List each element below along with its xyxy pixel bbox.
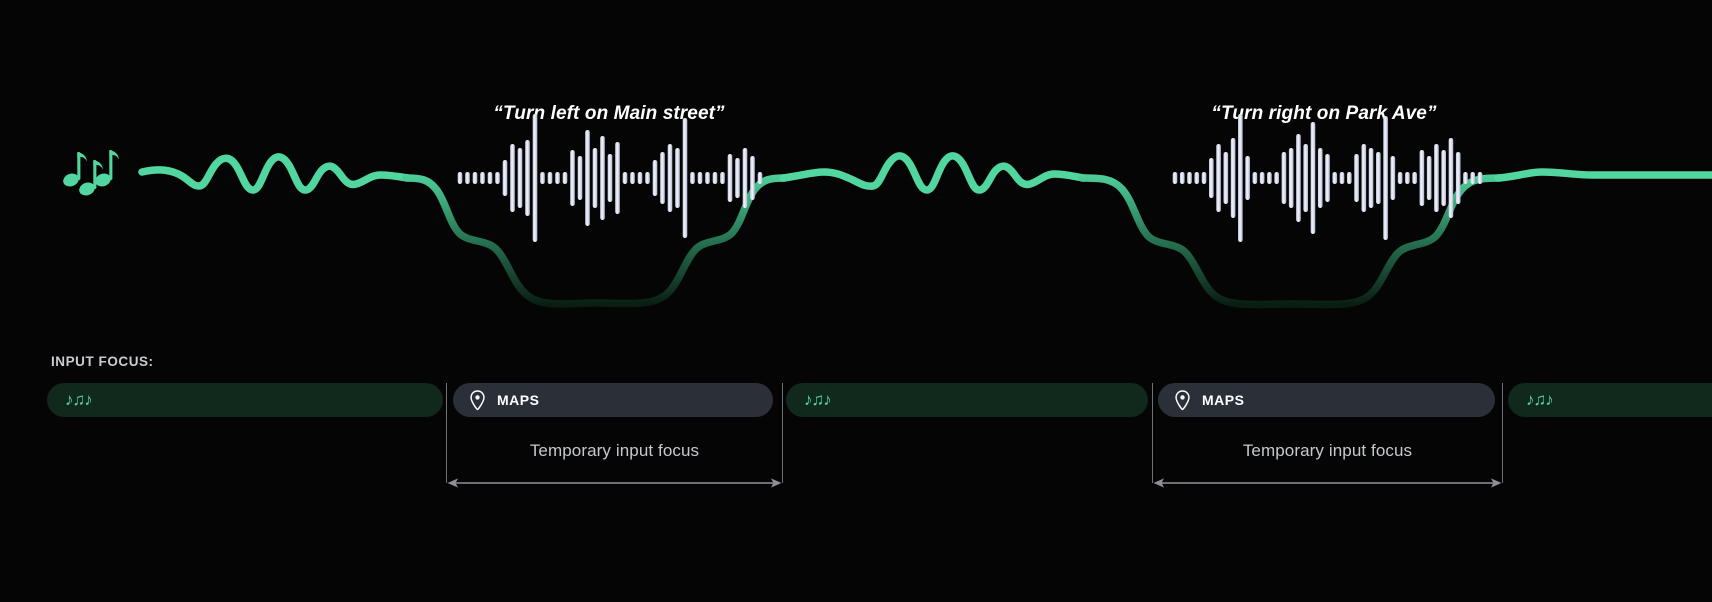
voice-waveform-bar bbox=[1303, 144, 1308, 212]
music-notes-icon: ♪♫♪ bbox=[1526, 391, 1553, 408]
voice-waveform-bar bbox=[653, 160, 658, 196]
voice-waveform-bar bbox=[1260, 172, 1265, 184]
voice-waveform-bar bbox=[705, 172, 710, 184]
voice-waveform-bar bbox=[743, 148, 748, 208]
voice-waveform-bar bbox=[713, 172, 718, 184]
voice-waveform-bar bbox=[1318, 148, 1323, 208]
voice-waveform-bar bbox=[615, 142, 620, 214]
voice-waveform-bar bbox=[1434, 144, 1439, 212]
voice-waveform-bar bbox=[510, 144, 515, 212]
voice-waveform-bar bbox=[585, 130, 590, 226]
annotation-label: Temporary input focus bbox=[1152, 441, 1503, 461]
voice-waveform-bar bbox=[488, 172, 493, 184]
voice-waveform-bars-2 bbox=[1173, 114, 1483, 242]
voice-waveform-bar bbox=[690, 172, 695, 184]
voice-waveform-bar bbox=[1180, 172, 1185, 184]
map-pin-icon bbox=[469, 390, 486, 411]
voice-waveform-bar bbox=[548, 172, 553, 184]
voice-waveform-bar bbox=[1340, 172, 1345, 184]
voice-waveform-bar bbox=[480, 172, 485, 184]
voice-waveform-bar bbox=[555, 172, 560, 184]
voice-waveform-bar bbox=[525, 140, 530, 216]
voice-waveform-bar bbox=[630, 172, 635, 184]
voice-waveform-bar bbox=[1332, 172, 1337, 184]
voice-waveform-bar bbox=[1405, 172, 1410, 184]
voice-waveform-bar bbox=[1238, 114, 1243, 242]
voice-waveform-bar bbox=[503, 160, 508, 196]
voice-waveform-bar bbox=[638, 172, 643, 184]
voice-waveform-bar bbox=[608, 154, 613, 202]
voice-waveform-bar bbox=[540, 172, 545, 184]
voice-waveform-bar bbox=[1354, 154, 1359, 202]
voice-waveform-bar bbox=[1187, 172, 1192, 184]
voice-waveform-bar bbox=[570, 150, 575, 206]
voice-waveform-bar bbox=[533, 114, 538, 242]
voice-waveform-bar bbox=[675, 148, 680, 208]
annotation-label: Temporary input focus bbox=[446, 441, 783, 461]
voice-waveform-bar bbox=[1289, 148, 1294, 208]
input-focus-label: INPUT FOCUS: bbox=[51, 354, 154, 369]
music-notes-icon bbox=[61, 150, 119, 198]
annotation-divider-right bbox=[782, 383, 783, 483]
input-focus-chip-music-3[interactable]: ♪♫♪ bbox=[1508, 383, 1712, 417]
voice-waveform-bar bbox=[758, 172, 763, 184]
annotation-divider-left bbox=[1152, 383, 1153, 483]
voice-waveform-bar bbox=[563, 172, 568, 184]
voice-waveform-bars-1 bbox=[458, 114, 763, 242]
voice-waveform-bar bbox=[728, 154, 733, 202]
voice-waveform-bar bbox=[1478, 172, 1483, 184]
voice-waveform-bar bbox=[518, 148, 523, 208]
voice-waveform-bar bbox=[1441, 150, 1446, 206]
voice-waveform-bar bbox=[1224, 152, 1229, 204]
voice-waveform-bar bbox=[1253, 172, 1258, 184]
voice-waveform-bar bbox=[1202, 172, 1207, 184]
voice-waveform-bar bbox=[660, 152, 665, 204]
voice-waveform-bar bbox=[1362, 144, 1367, 212]
music-notes-icon: ♪♫♪ bbox=[804, 391, 831, 408]
voice-waveform-bar bbox=[1391, 156, 1396, 200]
voice-waveform-bar bbox=[1369, 148, 1374, 208]
music-envelope-segment-2 bbox=[783, 156, 1084, 190]
voice-waveform-bar bbox=[600, 136, 605, 220]
audio-waveform-graphic bbox=[0, 0, 1712, 340]
voice-waveform-bar bbox=[1383, 116, 1388, 240]
voice-waveform-bar bbox=[1173, 172, 1178, 184]
voice-waveform-bar bbox=[473, 172, 478, 184]
annotation-divider-left bbox=[446, 383, 447, 483]
voice-waveform-bar bbox=[1427, 156, 1432, 200]
voice-waveform-bar bbox=[683, 118, 688, 238]
voice-waveform-bar bbox=[1274, 172, 1279, 184]
music-notes-icon: ♪♫♪ bbox=[65, 391, 92, 408]
voice-waveform-bar bbox=[1470, 172, 1475, 184]
voice-waveform-bar bbox=[1231, 138, 1236, 218]
voice-waveform-bar bbox=[1420, 150, 1425, 206]
input-focus-chip-music-2[interactable]: ♪♫♪ bbox=[786, 383, 1148, 417]
voice-waveform-bar bbox=[465, 172, 470, 184]
input-focus-chip-maps-1[interactable]: MAPS bbox=[453, 383, 773, 417]
input-focus-chip-label: MAPS bbox=[497, 392, 539, 408]
voice-waveform-bar bbox=[1463, 172, 1468, 184]
music-envelope-segment-3 bbox=[1498, 172, 1712, 178]
annotation-arrow bbox=[446, 475, 783, 491]
voice-waveform-bar bbox=[1325, 154, 1330, 202]
input-focus-chip-maps-2[interactable]: MAPS bbox=[1158, 383, 1495, 417]
voice-waveform-bar bbox=[645, 172, 650, 184]
map-pin-icon bbox=[1174, 390, 1191, 411]
voice-waveform-bar bbox=[1412, 172, 1417, 184]
annotation-divider-right bbox=[1502, 383, 1503, 483]
music-envelope-segment-1 bbox=[142, 157, 408, 190]
voice-waveform-bar bbox=[1216, 144, 1221, 212]
voice-waveform-bar bbox=[1376, 152, 1381, 204]
voice-waveform-bar bbox=[623, 172, 628, 184]
voice-waveform-bar bbox=[593, 148, 598, 208]
voice-waveform-bar bbox=[1282, 152, 1287, 204]
voice-waveform-bar bbox=[1311, 122, 1316, 234]
voice-waveform-bar bbox=[1245, 156, 1250, 200]
voice-waveform-bar bbox=[1296, 134, 1301, 222]
voice-waveform-bar bbox=[578, 156, 583, 200]
voice-waveform-bar bbox=[668, 144, 673, 212]
voice-waveform-bar bbox=[1267, 172, 1272, 184]
diagram-canvas: “Turn left on Main street” “Turn right o… bbox=[0, 0, 1712, 602]
voice-waveform-bar bbox=[495, 172, 500, 184]
input-focus-chip-music-1[interactable]: ♪♫♪ bbox=[47, 383, 443, 417]
voice-waveform-bar bbox=[1209, 158, 1214, 198]
voice-waveform-bar bbox=[458, 172, 463, 184]
annotation-arrow bbox=[1152, 475, 1503, 491]
input-focus-chip-label: MAPS bbox=[1202, 392, 1244, 408]
voice-waveform-bar bbox=[1194, 172, 1199, 184]
voice-waveform-bar bbox=[735, 158, 740, 198]
voice-waveform-bar bbox=[698, 172, 703, 184]
voice-waveform-bar bbox=[750, 156, 755, 200]
voice-waveform-bar bbox=[720, 172, 725, 184]
voice-waveform-bar bbox=[1347, 172, 1352, 184]
voice-waveform-bar bbox=[1398, 172, 1403, 184]
voice-waveform-bar bbox=[1456, 152, 1461, 204]
voice-waveform-bar bbox=[1449, 138, 1454, 218]
